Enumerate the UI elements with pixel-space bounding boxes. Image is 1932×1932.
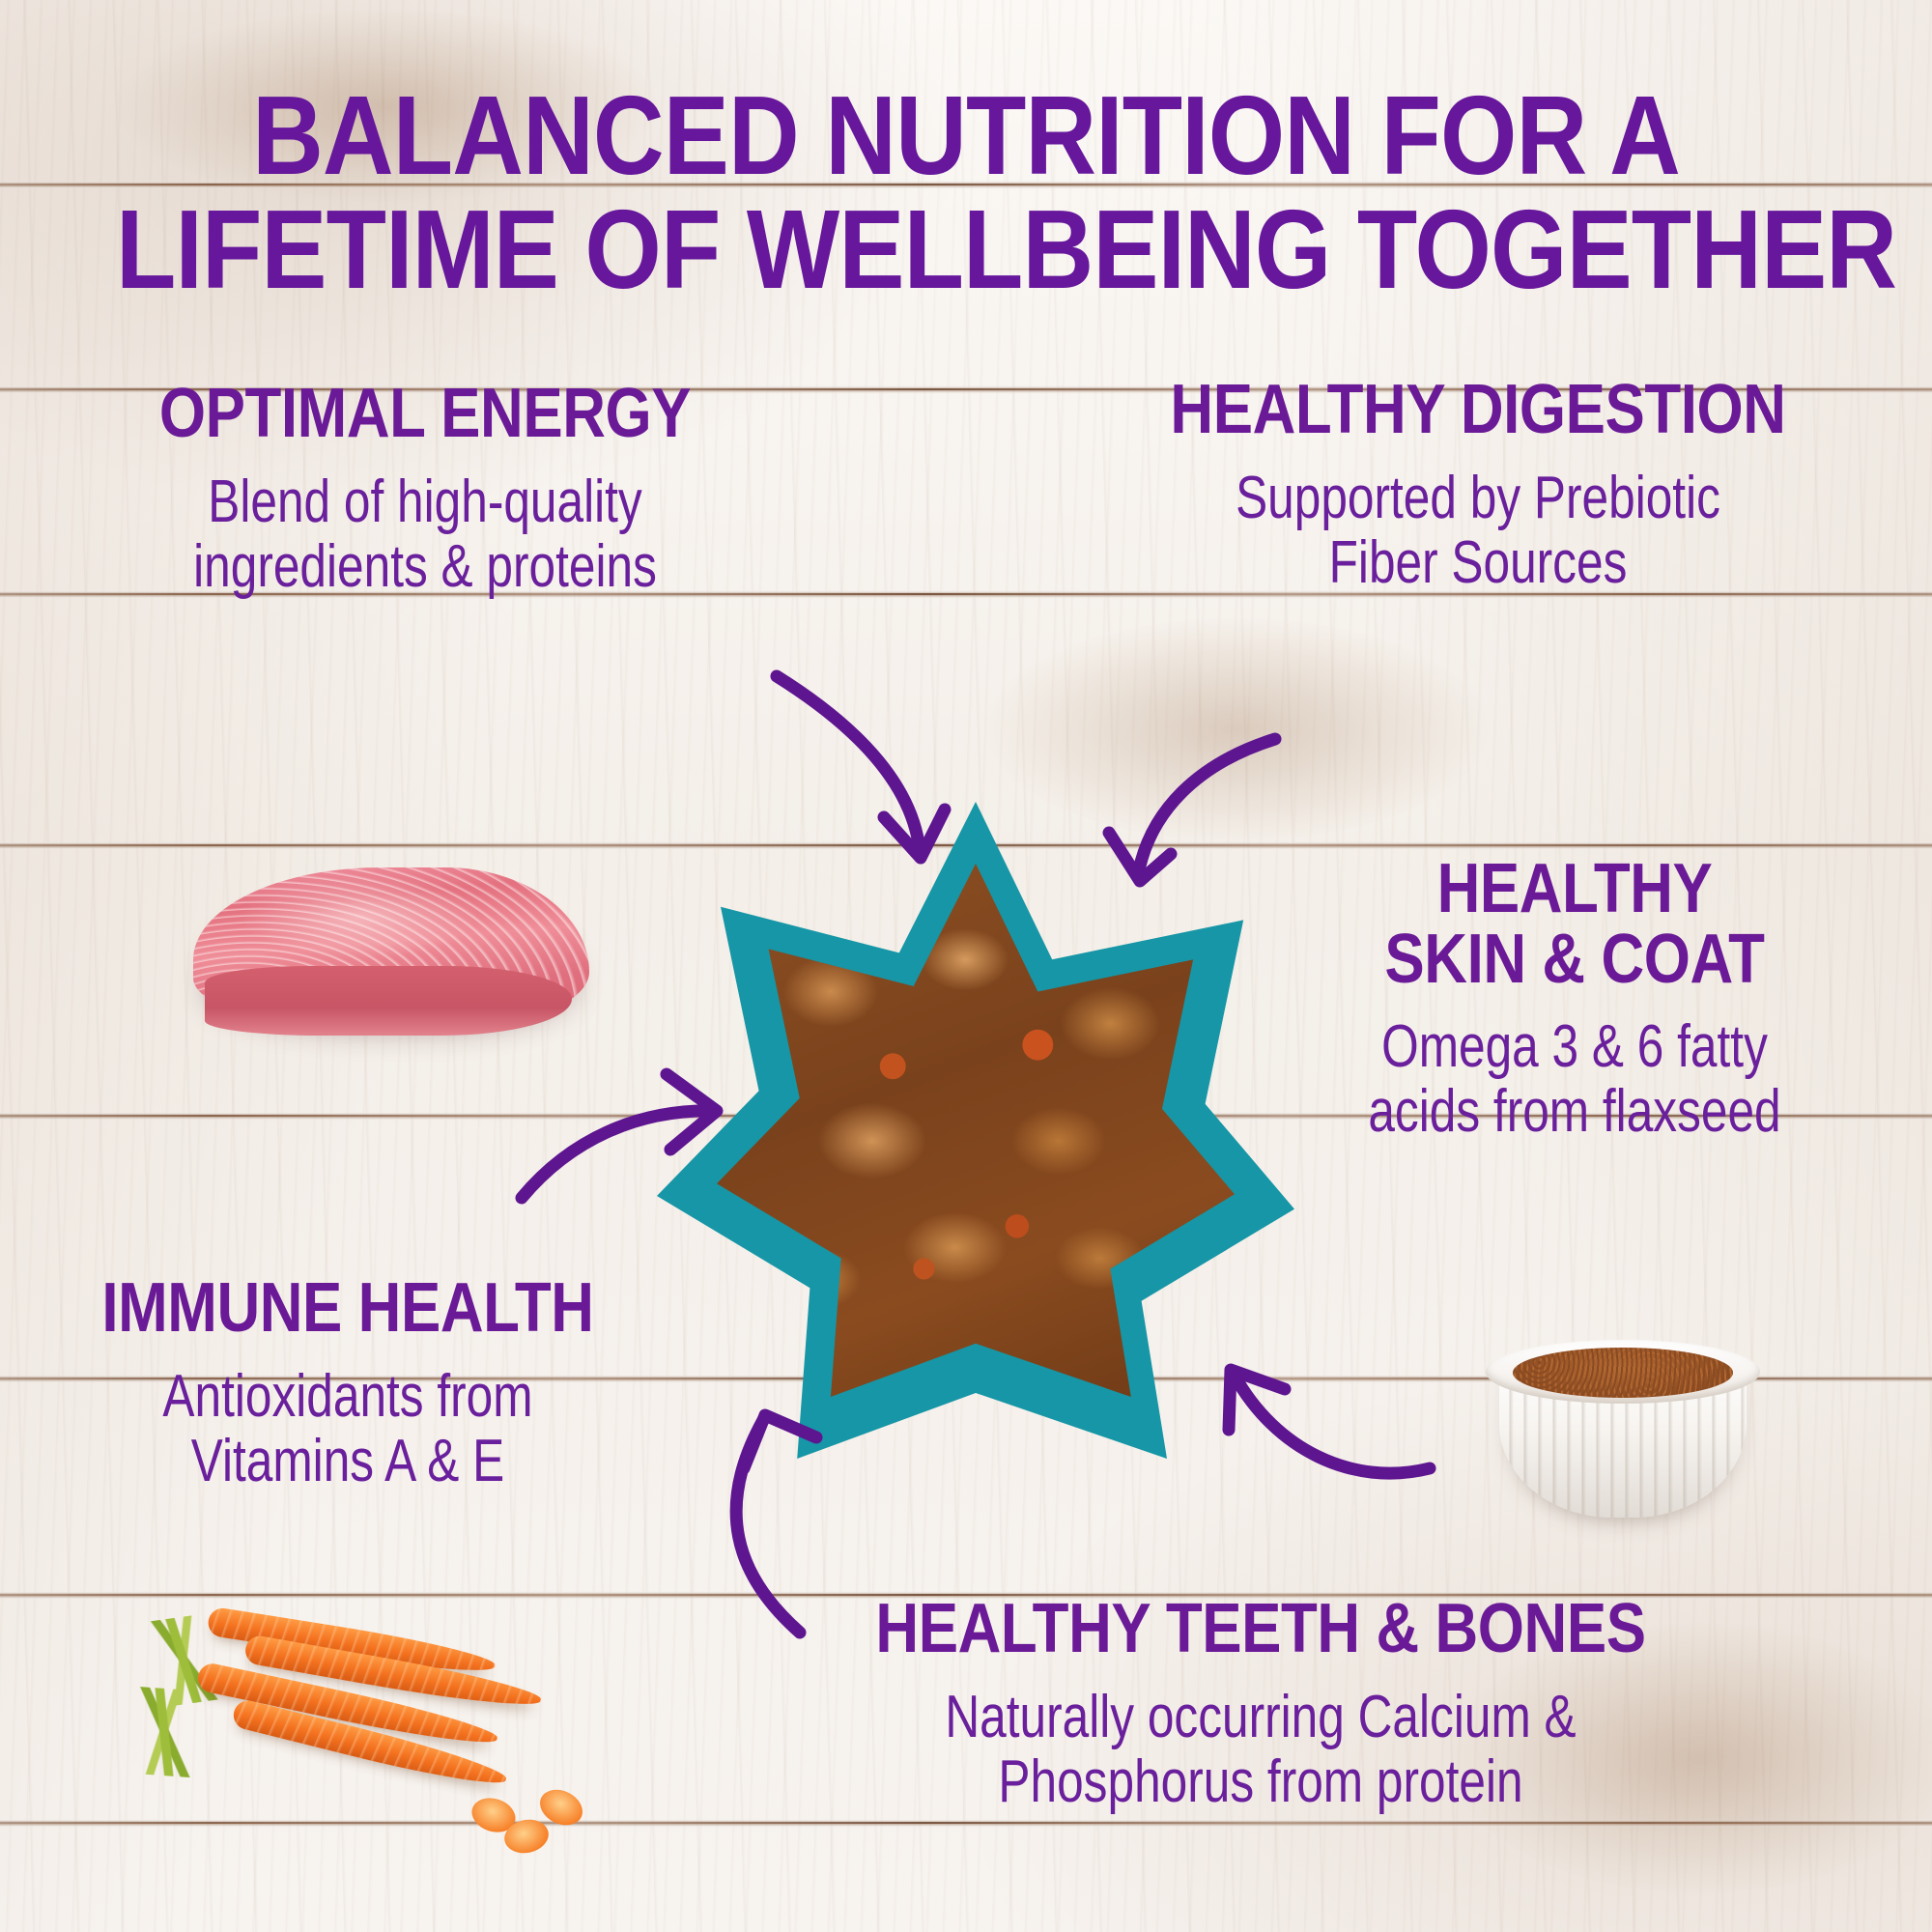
benefit-heading-line1: HEALTHY — [1267, 854, 1882, 924]
benefit-body-line1: Omega 3 & 6 fatty — [1289, 1015, 1861, 1080]
benefit-body-line2: acids from flaxseed — [1289, 1080, 1861, 1145]
infographic-canvas: BALANCED NUTRITION FOR A LIFETIME OF WEL… — [0, 0, 1932, 1932]
pet-food-star-image — [657, 802, 1294, 1459]
benefit-healthy-skin-coat: HEALTHY SKIN & COAT Omega 3 & 6 fatty ac… — [1217, 854, 1932, 1145]
benefit-heading: HEALTHY TEETH & BONES — [833, 1594, 1689, 1664]
benefit-heading-line2: SKIN & COAT — [1267, 924, 1882, 995]
tuna-steak-image — [184, 850, 599, 1063]
benefit-heading: IMMUNE HEALTH — [57, 1273, 639, 1344]
tuna-edge — [205, 966, 572, 1036]
page-title-line2: LIFETIME OF WELLBEING TOGETHER — [116, 193, 1816, 305]
benefit-body-line1: Supported by Prebiotic — [1130, 467, 1826, 531]
benefit-healthy-digestion: HEALTHY DIGESTION Supported by Prebiotic… — [1043, 375, 1913, 596]
carrot-greens — [103, 1685, 225, 1779]
benefit-body-line2: Phosphorus from protein — [863, 1750, 1659, 1815]
benefit-body-line2: Vitamins A & E — [77, 1430, 618, 1494]
benefit-heading: OPTIMAL ENERGY — [109, 379, 741, 449]
benefit-body-line2: Fiber Sources — [1130, 531, 1826, 596]
benefit-body-line1: Naturally occurring Calcium & — [863, 1686, 1659, 1750]
benefit-immune-health: IMMUNE HEALTH Antioxidants from Vitamins… — [10, 1273, 686, 1494]
page-title-line1: BALANCED NUTRITION FOR A — [116, 79, 1816, 191]
carrots-image — [106, 1584, 560, 1913]
benefit-body-line2: ingredients & proteins — [131, 535, 719, 600]
flaxseed-bowl-image — [1478, 1309, 1768, 1531]
benefit-healthy-teeth-bones: HEALTHY TEETH & BONES Naturally occurrin… — [763, 1594, 1758, 1815]
benefit-body-line1: Blend of high-quality — [131, 470, 719, 535]
benefit-body-line1: Antioxidants from — [77, 1365, 618, 1430]
benefit-optimal-energy: OPTIMAL ENERGY Blend of high-quality ing… — [58, 379, 792, 600]
benefit-heading: HEALTHY DIGESTION — [1104, 375, 1852, 445]
flaxseeds — [1513, 1348, 1733, 1398]
